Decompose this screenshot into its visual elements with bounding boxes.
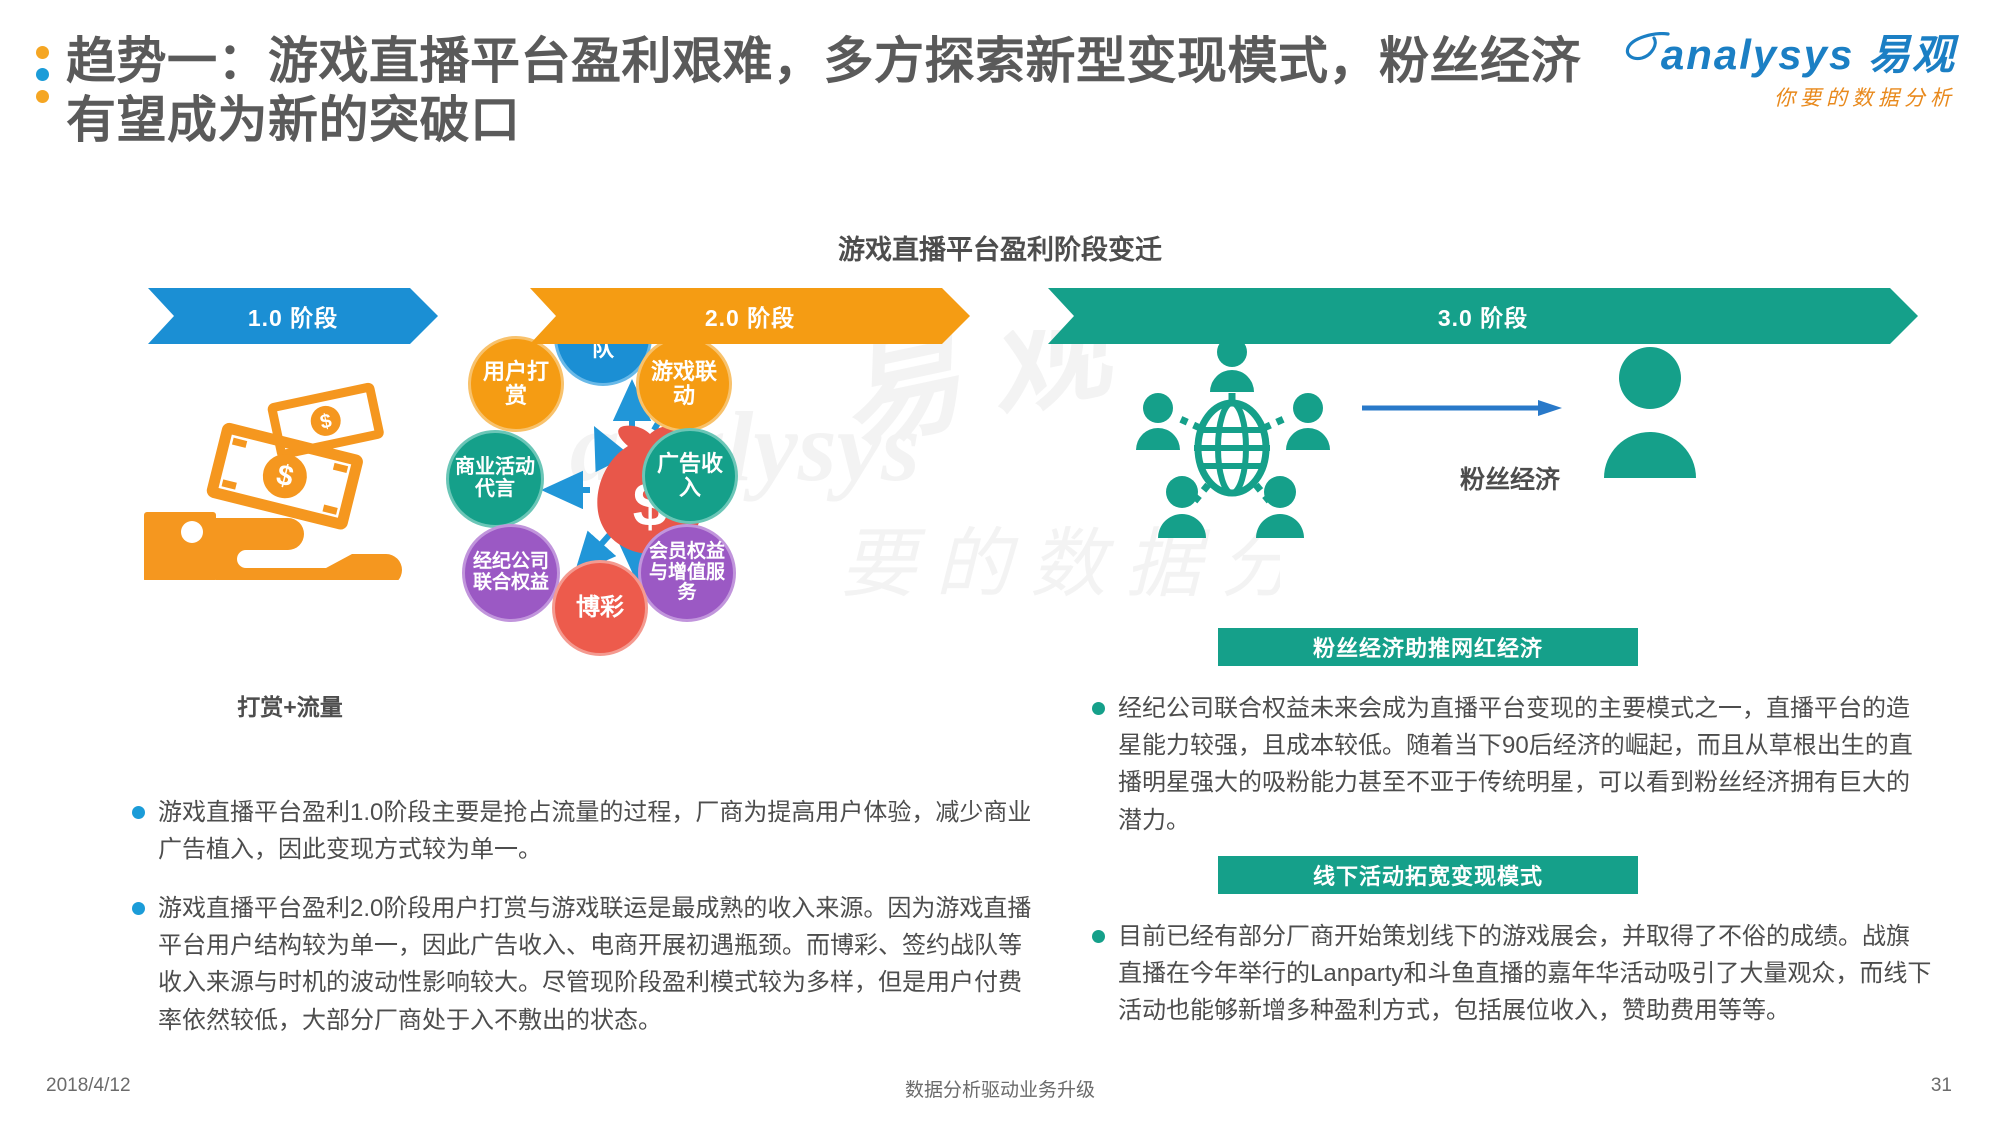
bubble-gambling: 博彩 [552, 560, 648, 656]
fan-economy-label: 粉丝经济 [1390, 460, 1630, 496]
right-section-2-bullet: 目前已经有部分厂商开始策划线下的游戏展会，并取得了不俗的成绩。战旗直播在今年举行… [1092, 918, 1932, 1030]
right-section-1-bullet: 经纪公司联合权益未来会成为直播平台变现的主要模式之一，直播平台的造星能力较强，且… [1092, 690, 1932, 839]
footer-page-number: 31 [1931, 1075, 1952, 1097]
right-section-2-heading: 线下活动拓宽变现模式 [1218, 856, 1638, 894]
bubble-gambling-label: 博彩 [572, 595, 628, 621]
footer-center-text: 数据分析驱动业务升级 [0, 1075, 2000, 1102]
title-dot-orange-top [36, 46, 49, 59]
right-bullet-2-marker [1092, 930, 1105, 943]
bubble-user-tips-label: 用户打赏 [471, 360, 561, 408]
title-dot-marks [36, 46, 49, 103]
stage-arrow-1-label: 1.0 阶段 [248, 299, 338, 333]
money-to-hand-icon: $ $ [130, 380, 450, 580]
left-panel-caption: 打赏+流量 [130, 688, 450, 722]
stage-arrow-2-label: 2.0 阶段 [705, 299, 795, 333]
stage-arrow-3-label: 3.0 阶段 [1438, 299, 1528, 333]
fan-economy-graphic [1090, 330, 1770, 550]
bubble-game-linkage-label: 游戏联动 [639, 360, 729, 408]
right-bullet-2-text: 目前已经有部分厂商开始策划线下的游戏展会，并取得了不俗的成绩。战旗直播在今年举行… [1118, 918, 1932, 1030]
left-bullet-1: 游戏直播平台盈利1.0阶段主要是抢占流量的过程，厂商为提高用户体验，减少商业广告… [132, 794, 1032, 868]
logo-wordmark-text: analysys 易观 [1661, 31, 1956, 78]
slide-root: 趋势一：游戏直播平台盈利艰难，多方探索新型变现模式，粉丝经济有望成为新的突破口 … [0, 0, 2000, 1125]
stage-arrow-3: 3.0 阶段 [1048, 288, 1918, 344]
bubble-endorsement: 商业活动代言 [446, 430, 544, 528]
single-person-icon [1604, 347, 1696, 478]
bubble-agency-rights-label: 经纪公司联合权益 [465, 552, 557, 593]
right-section-1-heading-label: 粉丝经济助推网红经济 [1313, 631, 1543, 663]
right-bullet-1-marker [1092, 702, 1105, 715]
right-bullet-1-text: 经纪公司联合权益未来会成为直播平台变现的主要模式之一，直播平台的造星能力较强，且… [1118, 690, 1932, 839]
bubble-membership-label: 会员权益与增值服务 [641, 542, 733, 604]
fan-cluster-icon [1136, 337, 1330, 538]
logo-wordmark: analysys 易观 [1576, 34, 1956, 76]
bubble-agency-rights: 经纪公司联合权益 [462, 524, 560, 622]
bubble-user-tips: 用户打赏 [468, 336, 564, 432]
left-bullet-2-marker [132, 902, 145, 915]
brand-logo: analysys 易观 你要的数据分析 [1576, 34, 1956, 112]
logo-tagline: 你要的数据分析 [1576, 82, 1956, 112]
left-bullet-2: 游戏直播平台盈利2.0阶段用户打赏与游戏联运是最成熟的收入来源。因为游戏直播平台… [132, 890, 1032, 1039]
right-section-1-heading: 粉丝经济助推网红经济 [1218, 628, 1638, 666]
right-section-2-heading-label: 线下活动拓宽变现模式 [1313, 859, 1543, 891]
stage-arrow-row: 1.0 阶段 2.0 阶段 3.0 阶段 [0, 288, 2000, 344]
title-dot-blue [36, 68, 49, 81]
footer: 2018/4/12 数据分析驱动业务升级 31 [0, 1075, 2000, 1099]
left-bullet-2-text: 游戏直播平台盈利2.0阶段用户打赏与游戏联运是最成熟的收入来源。因为游戏直播平台… [158, 890, 1032, 1039]
left-bullet-1-text: 游戏直播平台盈利1.0阶段主要是抢占流量的过程，厂商为提高用户体验，减少商业广告… [158, 794, 1032, 868]
bubble-ad-revenue: 广告收入 [642, 428, 738, 524]
bubble-endorsement-label: 商业活动代言 [449, 457, 541, 500]
stage-arrow-2: 2.0 阶段 [530, 288, 970, 344]
logo-swoosh-icon [1624, 32, 1670, 62]
bubble-ad-revenue-label: 广告收入 [645, 452, 735, 500]
stage-arrow-1: 1.0 阶段 [148, 288, 438, 344]
chart-heading: 游戏直播平台盈利阶段变迁 [0, 228, 2000, 267]
fan-arrow-icon [1362, 400, 1562, 416]
bubble-game-linkage: 游戏联动 [636, 336, 732, 432]
monetization-bubble-diagram: $ 签约战队 游戏联动 用户打赏 广告收入 商业活动代言 会员权益与增值服务 经… [420, 350, 980, 710]
page-title: 趋势一：游戏直播平台盈利艰难，多方探索新型变现模式，粉丝经济有望成为新的突破口 [66, 32, 1586, 150]
left-bullet-1-marker [132, 806, 145, 819]
bubble-membership: 会员权益与增值服务 [638, 524, 736, 622]
title-dot-orange-bottom [36, 90, 49, 103]
